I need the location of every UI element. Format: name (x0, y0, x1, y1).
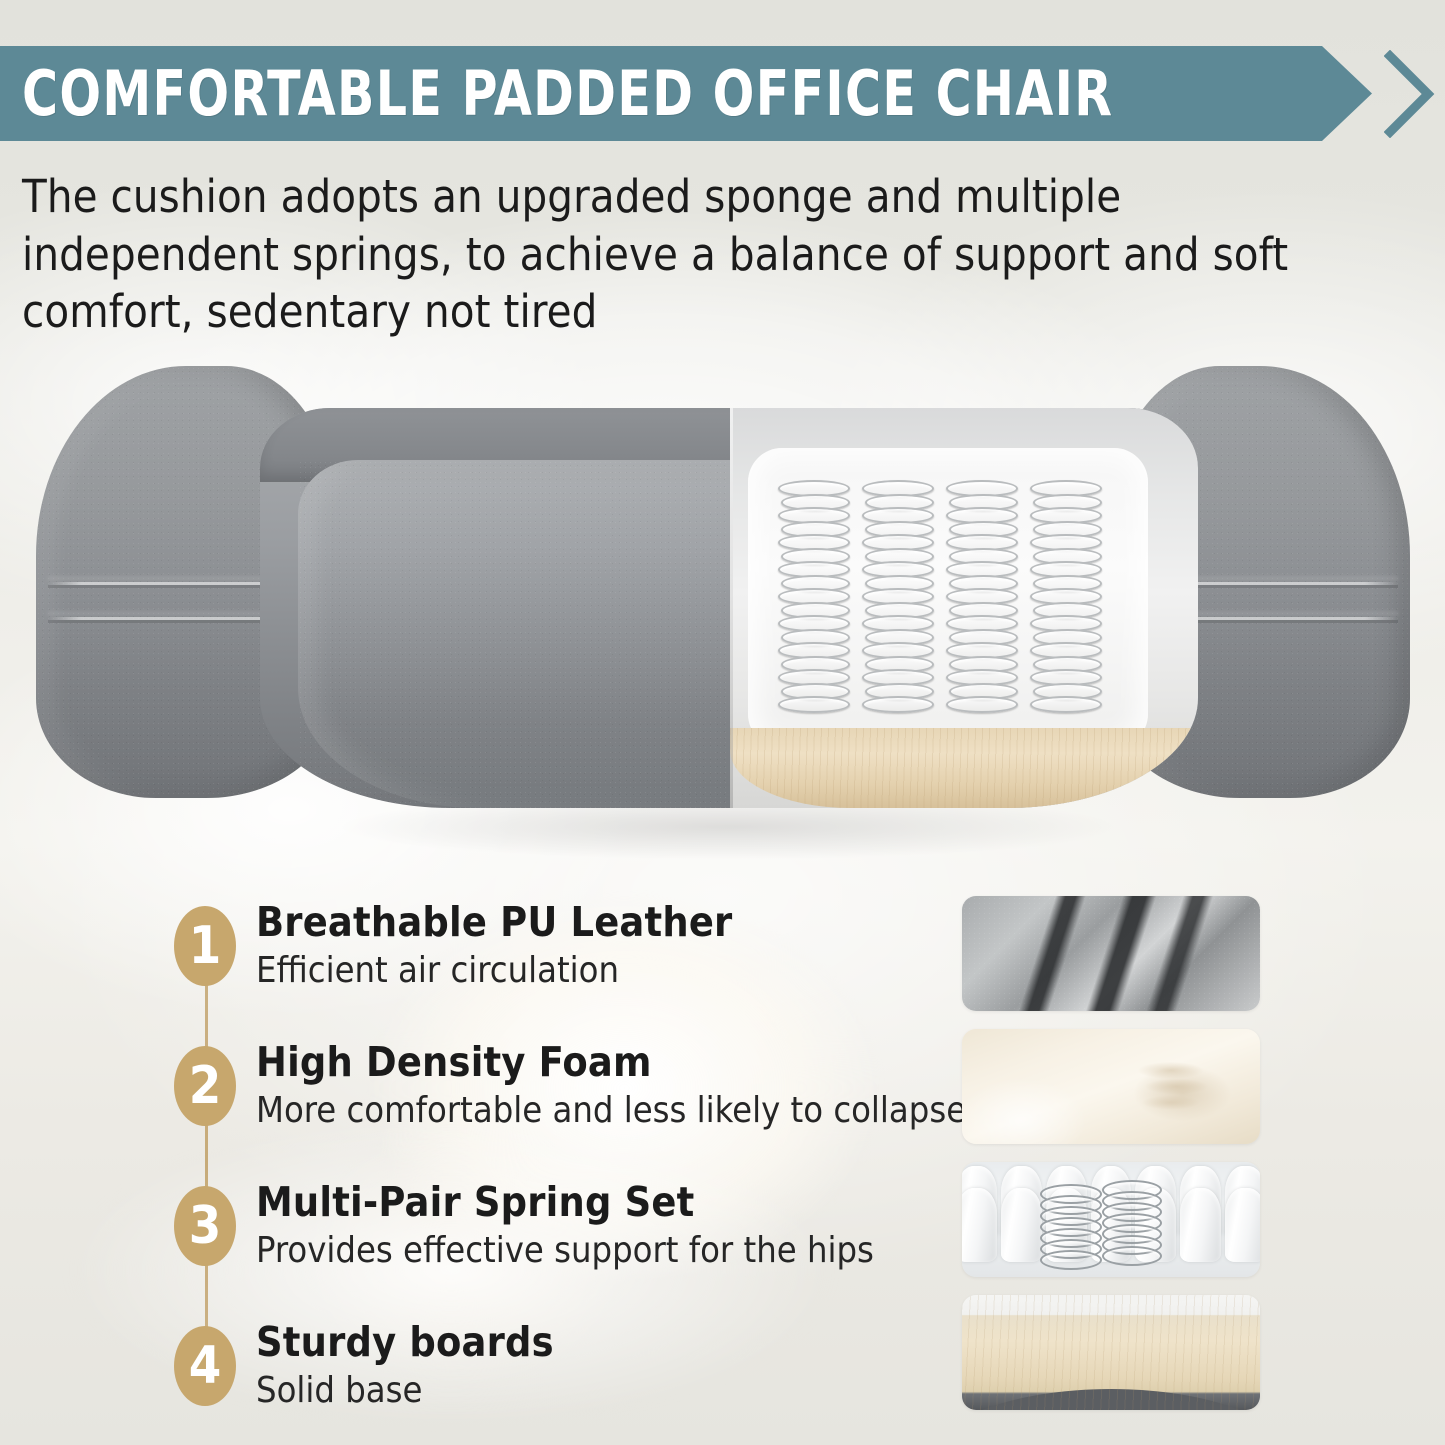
feature-badge-1: 1 (174, 906, 236, 986)
feature-title-2: High Density Foam (256, 1040, 966, 1086)
description-text: The cushion adopts an upgraded sponge an… (22, 168, 1382, 341)
feature-subtitle-1: Efficient air circulation (256, 950, 732, 991)
cushion-body (260, 408, 1198, 808)
cutaway-section (730, 408, 1198, 808)
thumbnail-pu-leather (962, 896, 1260, 1011)
feature-title-1: Breathable PU Leather (256, 900, 732, 946)
feature-list: 1 Breathable PU Leather Efficient air ci… (162, 900, 922, 1445)
feature-subtitle-2: More comfortable and less likely to coll… (256, 1090, 966, 1131)
hero-product-image (28, 352, 1418, 862)
spring-grid (778, 480, 1108, 716)
wood-grain-texture (730, 728, 1198, 808)
cutaway-wood-base (730, 728, 1198, 808)
feature-item-4: 4 Sturdy boards Solid base (162, 1320, 922, 1445)
spring-coil (1030, 696, 1102, 713)
spring-pocket (1001, 1188, 1042, 1262)
wood-bottom-shadow (962, 1389, 1260, 1410)
spring-coil (778, 696, 850, 713)
thumbnail-column (962, 896, 1260, 1428)
product-infographic-page: COMFORTABLE PADDED OFFICE CHAIR The cush… (0, 0, 1445, 1445)
spring-column (946, 480, 1024, 716)
spring-pocket (1225, 1188, 1260, 1262)
feature-item-2: 2 High Density Foam More comfortable and… (162, 1040, 922, 1180)
wood-top-curve (962, 1295, 1260, 1307)
page-title: COMFORTABLE PADDED OFFICE CHAIR (22, 63, 1113, 125)
spring-pocket (1180, 1188, 1221, 1262)
pocket-spring-illustration (962, 1162, 1260, 1277)
header-banner: COMFORTABLE PADDED OFFICE CHAIR (0, 46, 1445, 141)
feature-text-4: Sturdy boards Solid base (256, 1320, 554, 1411)
spring-column (1030, 480, 1108, 716)
spring-coil (862, 696, 934, 713)
feature-subtitle-4: Solid base (256, 1370, 554, 1411)
feature-text-1: Breathable PU Leather Efficient air circ… (256, 900, 732, 991)
feature-badge-4: 4 (174, 1326, 236, 1406)
feature-text-3: Multi-Pair Spring Set Provides effective… (256, 1180, 874, 1271)
feature-badge-2: 2 (174, 1046, 236, 1126)
feature-title-3: Multi-Pair Spring Set (256, 1180, 874, 1226)
spring-coil (946, 696, 1018, 713)
feature-item-1: 1 Breathable PU Leather Efficient air ci… (162, 900, 922, 1040)
feature-badge-3: 3 (174, 1186, 236, 1266)
cutaway-edge-line (730, 408, 733, 808)
thumbnail-high-density-foam (962, 1029, 1260, 1144)
double-chevron-right-icon (1384, 50, 1440, 138)
feature-text-2: High Density Foam More comfortable and l… (256, 1040, 966, 1131)
spring-column (862, 480, 940, 716)
spring-column (778, 480, 856, 716)
feature-title-4: Sturdy boards (256, 1320, 554, 1366)
feature-item-3: 3 Multi-Pair Spring Set Provides effecti… (162, 1180, 922, 1320)
feature-subtitle-3: Provides effective support for the hips (256, 1230, 874, 1271)
thumbnail-wood-board (962, 1295, 1260, 1410)
exposed-spring-coil (1102, 1246, 1162, 1266)
spring-pocket (962, 1188, 997, 1262)
exposed-spring-coil (1040, 1250, 1102, 1270)
thumbnail-pocket-springs (962, 1162, 1260, 1277)
